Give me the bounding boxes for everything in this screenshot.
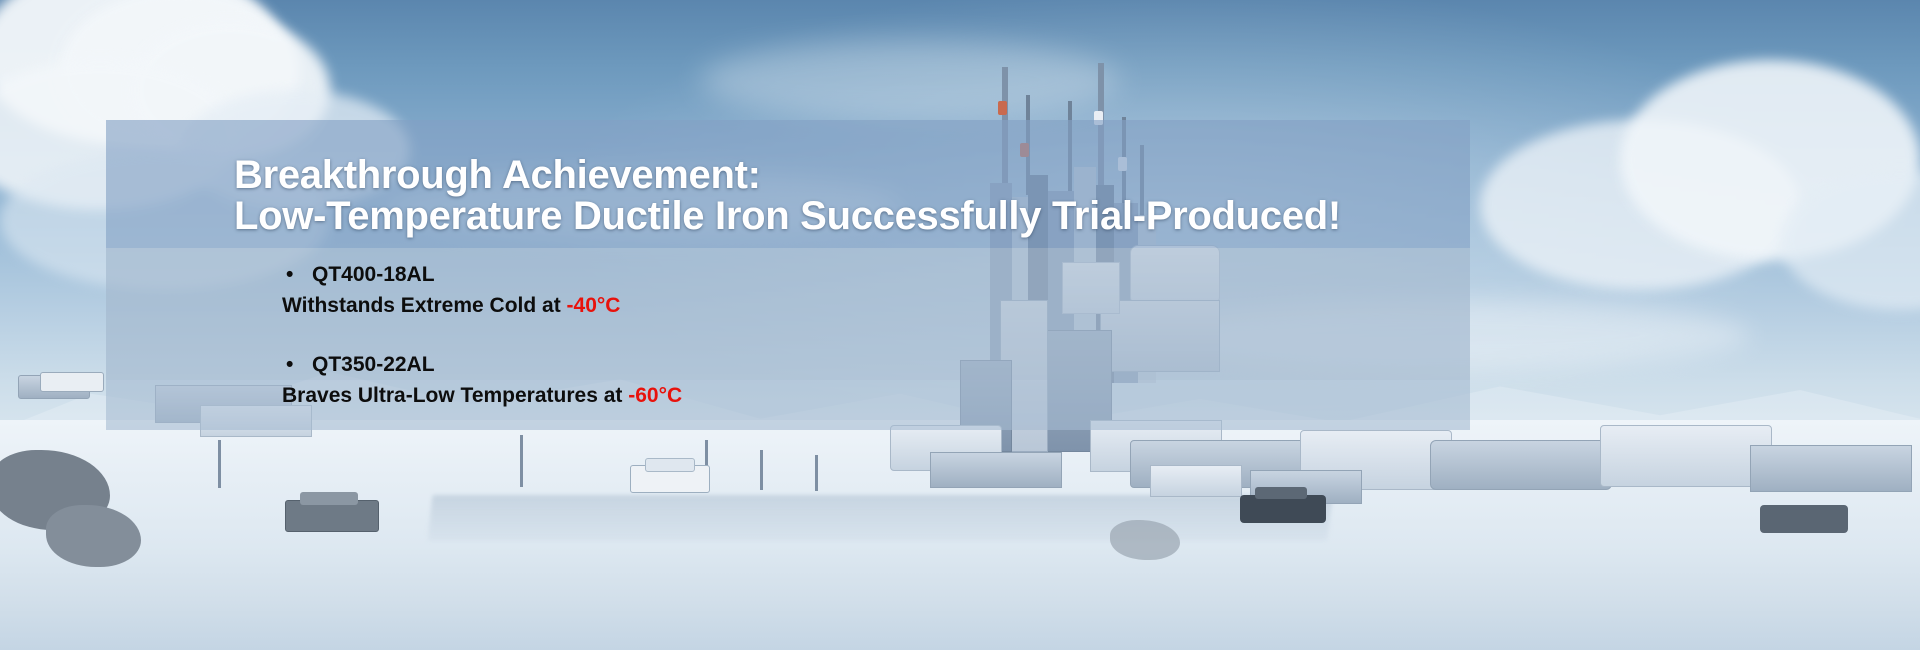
building bbox=[930, 452, 1062, 488]
bullet-description: Withstands Extreme Cold at -40°C bbox=[282, 292, 1182, 320]
bullet-description-text: Withstands Extreme Cold at bbox=[282, 294, 567, 317]
snow-shadows bbox=[0, 470, 1920, 650]
list-item: • QT400-18AL Withstands Extreme Cold at … bbox=[282, 258, 1182, 320]
vehicle bbox=[40, 372, 104, 392]
bullet-grade-line: • QT400-18AL bbox=[312, 258, 1182, 292]
headline-line-1: Breakthrough Achievement: bbox=[234, 155, 1474, 196]
building bbox=[1150, 465, 1242, 497]
vehicle-car bbox=[1240, 495, 1326, 523]
list-item: • QT350-22AL Braves Ultra-Low Temperatur… bbox=[282, 348, 1182, 410]
vehicle-car bbox=[1760, 505, 1848, 533]
bullet-grade-label: QT350-22AL bbox=[312, 353, 435, 376]
bullet-grade-label: QT400-18AL bbox=[312, 263, 435, 286]
utility-pole bbox=[815, 455, 818, 491]
utility-pole bbox=[760, 450, 763, 490]
building bbox=[1600, 425, 1772, 487]
utility-pole bbox=[520, 435, 523, 487]
vehicle-suv-cabin bbox=[645, 458, 695, 472]
list-spacer bbox=[282, 330, 1182, 348]
headline-line-2: Low-Temperature Ductile Iron Successfull… bbox=[234, 196, 1474, 237]
promo-banner: Breakthrough Achievement: Low-Temperatur… bbox=[0, 0, 1920, 650]
vehicle-car-cabin bbox=[300, 492, 358, 505]
vehicle-car-cabin bbox=[1255, 487, 1307, 499]
bullet-grade-line: • QT350-22AL bbox=[312, 348, 1182, 382]
utility-pole bbox=[218, 440, 221, 488]
product-bullet-list: • QT400-18AL Withstands Extreme Cold at … bbox=[282, 258, 1182, 420]
building bbox=[1430, 440, 1612, 490]
temperature-highlight: -40°C bbox=[567, 294, 621, 317]
building bbox=[1750, 445, 1912, 492]
bullet-marker-icon: • bbox=[286, 348, 293, 382]
bullet-description: Braves Ultra-Low Temperatures at -60°C bbox=[282, 382, 1182, 410]
temperature-highlight: -60°C bbox=[628, 384, 682, 407]
headline: Breakthrough Achievement: Low-Temperatur… bbox=[234, 155, 1474, 237]
bullet-description-text: Braves Ultra-Low Temperatures at bbox=[282, 384, 628, 407]
bullet-marker-icon: • bbox=[286, 258, 293, 292]
